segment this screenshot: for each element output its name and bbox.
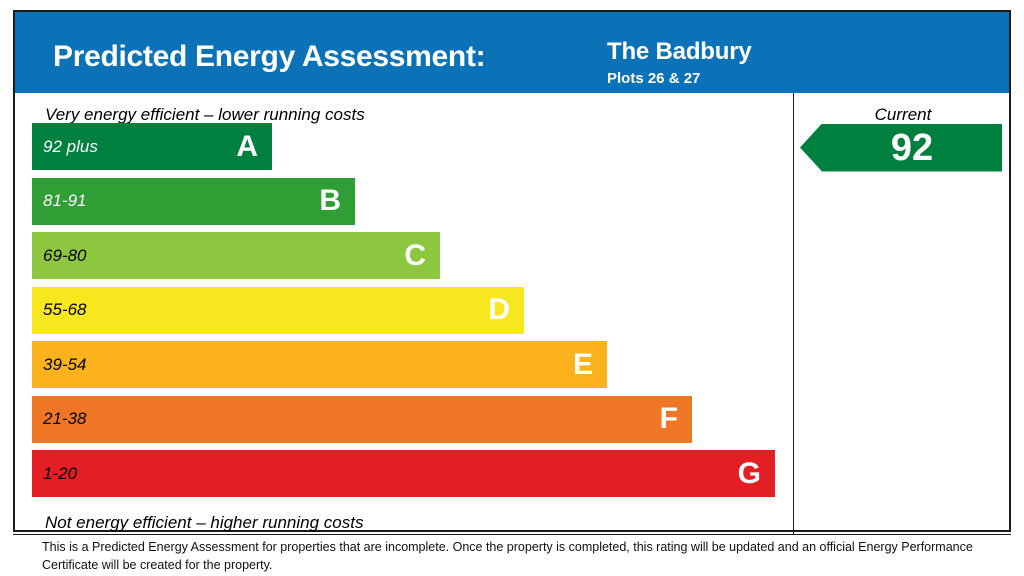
footnote-text: This is a Predicted Energy Assessment fo… bbox=[42, 538, 1002, 574]
property-plots: Plots 26 & 27 bbox=[607, 70, 700, 87]
energy-band-range-d: 55-68 bbox=[43, 300, 86, 320]
column-divider bbox=[793, 93, 794, 534]
energy-band-letter-f: F bbox=[660, 402, 678, 436]
current-column-heading: Current bbox=[793, 105, 1013, 125]
energy-band-bar-f: 21-38F bbox=[32, 396, 692, 443]
energy-band-letter-c: C bbox=[404, 239, 426, 273]
energy-band-bar-c: 69-80C bbox=[32, 232, 440, 279]
energy-band-row-e: 39-54E bbox=[32, 341, 607, 388]
caption-not-efficient: Not energy efficient – higher running co… bbox=[45, 513, 363, 533]
energy-band-row-a: 92 plusA bbox=[32, 123, 272, 170]
energy-band-letter-d: D bbox=[488, 293, 510, 327]
energy-band-bar-e: 39-54E bbox=[32, 341, 607, 388]
energy-band-list: 92 plusA81-91B69-80C55-68D39-54E21-38F1-… bbox=[15, 93, 793, 513]
footnote-divider bbox=[13, 534, 1011, 535]
energy-band-range-e: 39-54 bbox=[43, 355, 86, 375]
current-rating-value: 92 bbox=[822, 129, 1002, 167]
energy-band-row-g: 1-20G bbox=[32, 450, 775, 497]
energy-band-bar-d: 55-68D bbox=[32, 287, 524, 334]
page-title: Predicted Energy Assessment: bbox=[53, 40, 485, 74]
energy-band-row-c: 69-80C bbox=[32, 232, 440, 279]
energy-band-row-b: 81-91B bbox=[32, 178, 355, 225]
energy-band-letter-g: G bbox=[738, 457, 761, 491]
energy-band-row-f: 21-38F bbox=[32, 396, 692, 443]
energy-band-letter-a: A bbox=[236, 130, 258, 164]
energy-band-letter-e: E bbox=[573, 348, 593, 382]
chart-body: Very energy efficient – lower running co… bbox=[15, 93, 1009, 530]
header-bar: Predicted Energy Assessment: The Badbury… bbox=[15, 12, 1009, 93]
current-rating-arrow: 92 bbox=[800, 124, 1002, 172]
epc-certificate: Predicted Energy Assessment: The Badbury… bbox=[13, 10, 1011, 532]
energy-band-range-b: 81-91 bbox=[43, 191, 86, 211]
energy-band-range-a: 92 plus bbox=[43, 137, 98, 157]
energy-band-bar-g: 1-20G bbox=[32, 450, 775, 497]
energy-band-range-c: 69-80 bbox=[43, 246, 86, 266]
energy-band-range-g: 1-20 bbox=[43, 464, 77, 484]
property-name: The Badbury bbox=[607, 38, 751, 66]
energy-band-range-f: 21-38 bbox=[43, 409, 86, 429]
energy-band-row-d: 55-68D bbox=[32, 287, 524, 334]
energy-band-letter-b: B bbox=[319, 184, 341, 218]
energy-band-bar-b: 81-91B bbox=[32, 178, 355, 225]
energy-band-bar-a: 92 plusA bbox=[32, 123, 272, 170]
